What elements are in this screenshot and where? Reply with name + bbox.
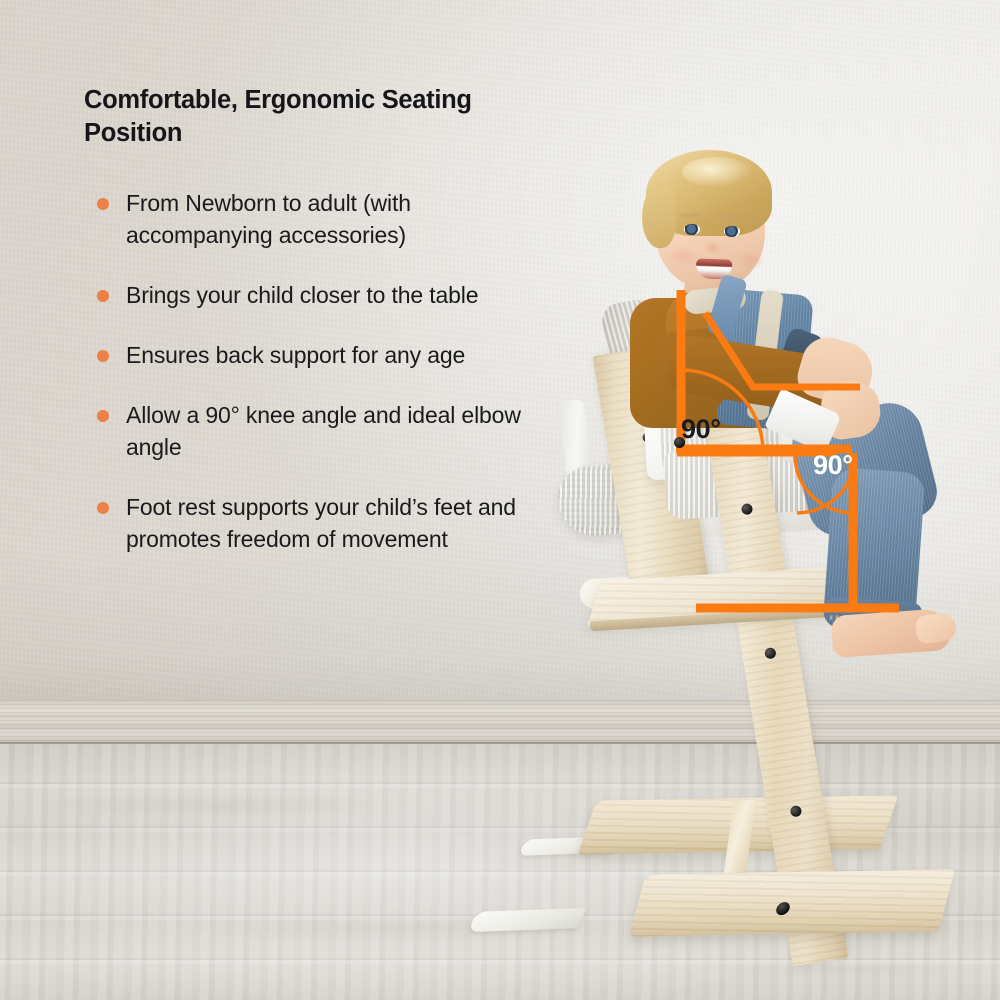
child-nose xyxy=(704,240,722,253)
product-photo xyxy=(470,0,1000,1000)
list-item-label: Allow a 90° knee angle and ideal elbow a… xyxy=(126,400,526,464)
child-eye xyxy=(684,224,700,235)
list-item-label: Brings your child closer to the table xyxy=(126,280,526,312)
child-hair-highlight xyxy=(682,157,752,187)
list-item-label: From Newborn to adult (with accompanying… xyxy=(126,188,526,252)
child-toes xyxy=(914,612,957,645)
child-eye xyxy=(724,226,740,237)
list-item-label: Foot rest supports your child’s feet and… xyxy=(126,492,526,556)
elbow-angle-label: 90° xyxy=(813,450,853,481)
child-cheek xyxy=(668,246,698,266)
page-title: Comfortable, Ergonomic Seating Position xyxy=(84,84,504,150)
bullet-dot-icon xyxy=(97,290,109,302)
child-hair-side xyxy=(642,186,676,248)
bullet-dot-icon xyxy=(97,410,109,422)
bullet-dot-icon xyxy=(97,502,109,514)
child-figure xyxy=(470,0,1000,1000)
bullet-dot-icon xyxy=(97,350,109,362)
bullet-dot-icon xyxy=(97,198,109,210)
list-item-label: Ensures back support for any age xyxy=(126,340,526,372)
infographic-slide: Comfortable, Ergonomic Seating Position … xyxy=(0,0,1000,1000)
knee-angle-label: 90° xyxy=(681,414,721,445)
chair-bolt xyxy=(674,437,685,448)
child-cheek xyxy=(736,250,766,270)
